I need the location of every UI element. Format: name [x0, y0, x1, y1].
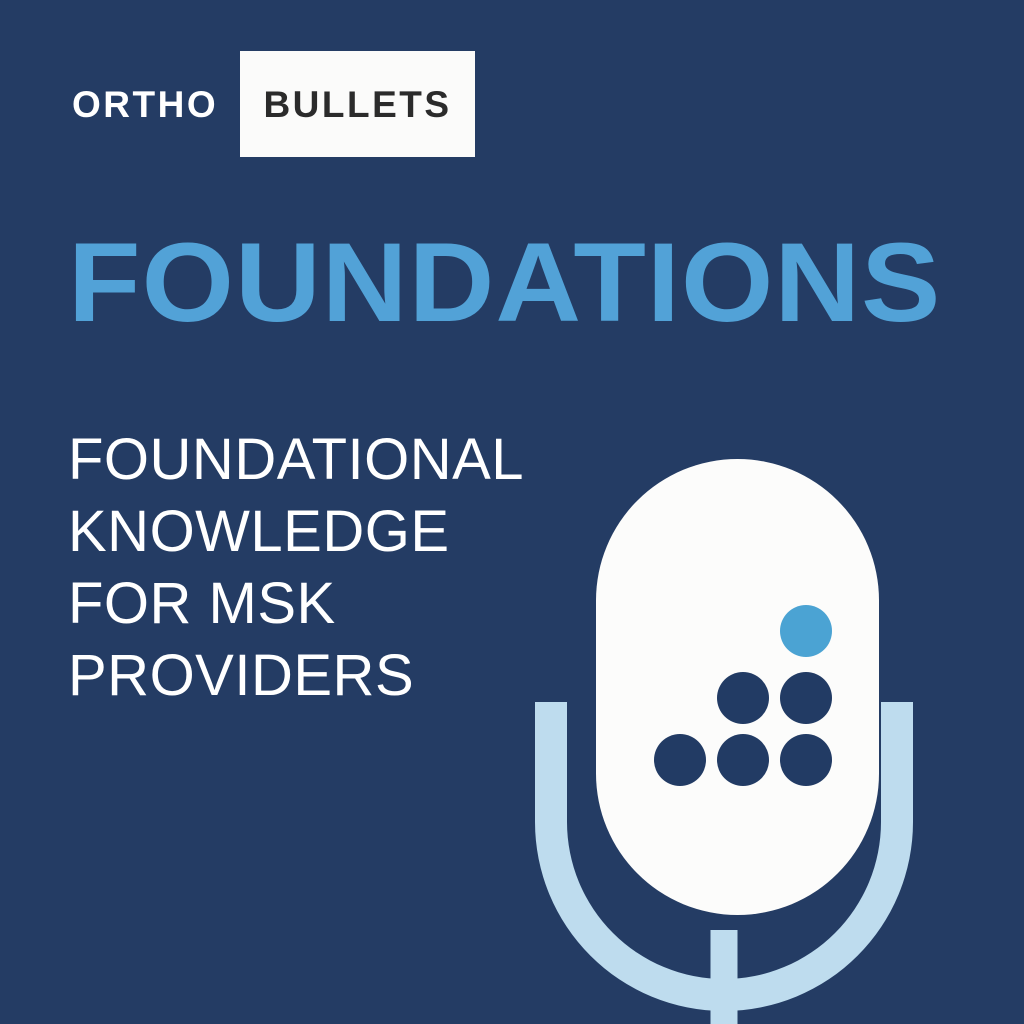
brand-bullets-text: BULLETS: [263, 86, 451, 123]
dot-mid-right: [780, 672, 832, 724]
microphone-icon-svg: [500, 430, 1024, 1024]
microphone-icon: [500, 430, 1024, 1024]
brand-ortho-text: ORTHO: [72, 86, 218, 123]
dot-bottom-center: [717, 734, 769, 786]
tagline: FOUNDATIONAL KNOWLEDGE FOR MSK PROVIDERS: [68, 424, 548, 712]
tagline-line-4: PROVIDERS: [68, 640, 548, 712]
show-title: FOUNDATIONS: [68, 227, 1022, 339]
brand-bullets-box: BULLETS: [240, 51, 475, 157]
microphone-stem: [711, 930, 738, 1024]
tagline-line-1: FOUNDATIONAL: [68, 424, 548, 496]
dot-bottom-left: [654, 734, 706, 786]
tagline-line-2: KNOWLEDGE: [68, 496, 548, 568]
dot-bottom-right: [780, 734, 832, 786]
tagline-line-3: FOR MSK: [68, 568, 548, 640]
accent-dot: [780, 605, 832, 657]
podcast-cover-art: ORTHO BULLETS FOUNDATIONS FOUNDATIONAL K…: [0, 0, 1024, 1024]
dot-mid-left: [717, 672, 769, 724]
brand-logo: ORTHO BULLETS: [72, 51, 218, 157]
